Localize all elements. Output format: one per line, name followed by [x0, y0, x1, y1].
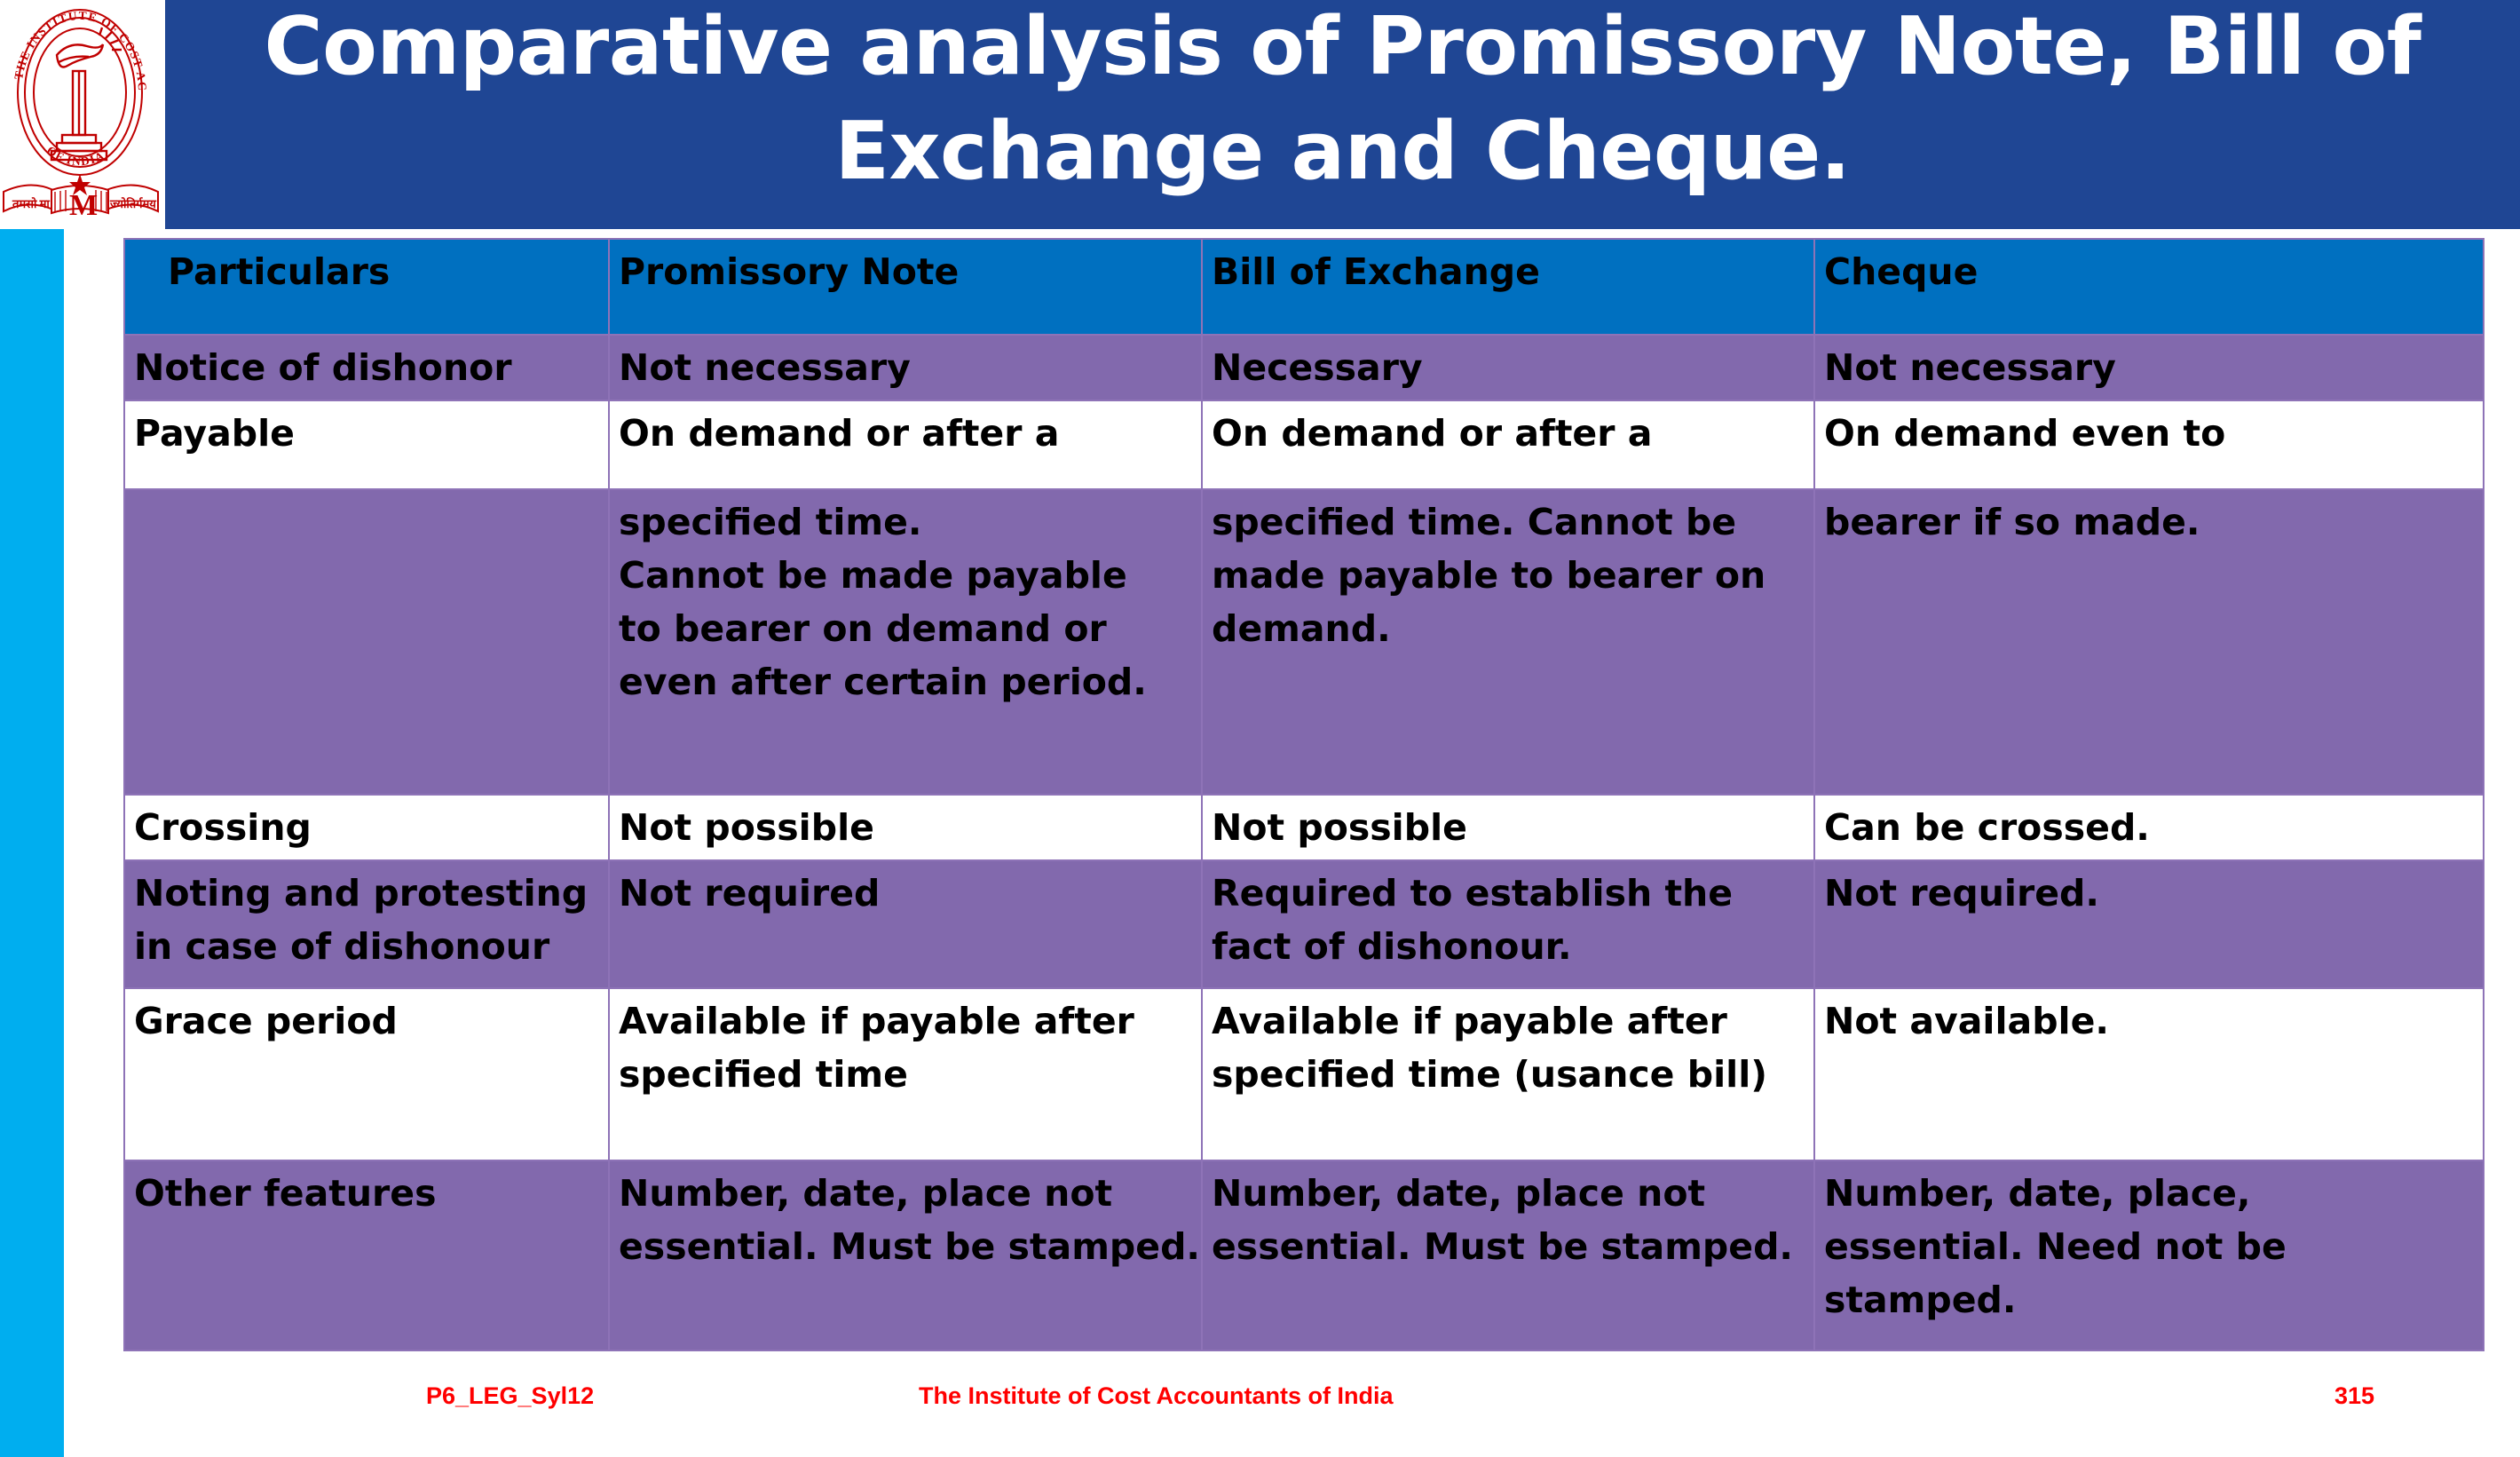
cell-particulars: Notice of dishonor — [124, 335, 609, 400]
cell-promissory-note: Number, date, place not essential. Must … — [609, 1160, 1202, 1350]
cell-cheque: Can be crossed. — [1814, 795, 2484, 860]
table-header-row: Particulars Promissory Note Bill of Exch… — [124, 239, 2484, 335]
cell-promissory-note: specified time. Cannot be made payable t… — [609, 489, 1202, 795]
table-row: Notice of dishonor Not necessary Necessa… — [124, 335, 2484, 400]
column-header-bill-of-exchange: Bill of Exchange — [1202, 239, 1814, 335]
page-title: Comparative analysis of Promissory Note,… — [165, 0, 2520, 204]
column-header-particulars: Particulars — [124, 239, 609, 335]
cell-promissory-note: Not possible — [609, 795, 1202, 860]
slide-footer: P6_LEG_Syl12 The Institute of Cost Accou… — [0, 1381, 2520, 1423]
cell-particulars: Crossing — [124, 795, 609, 860]
cell-bill-of-exchange: Available if payable after specified tim… — [1202, 988, 1814, 1160]
cell-bill-of-exchange: Necessary — [1202, 335, 1814, 400]
left-accent-rail — [0, 229, 64, 1457]
cell-cheque: Not required. — [1814, 860, 2484, 988]
svg-text:ज्योतिर्गमय: ज्योतिर्गमय — [109, 197, 156, 210]
column-header-promissory-note: Promissory Note — [609, 239, 1202, 335]
cell-cheque: Not necessary — [1814, 335, 2484, 400]
cell-particulars: Payable — [124, 400, 609, 489]
cell-particulars — [124, 489, 609, 795]
cell-cheque: On demand even to — [1814, 400, 2484, 489]
cell-promissory-note: On demand or after a — [609, 400, 1202, 489]
comparison-table: Particulars Promissory Note Bill of Exch… — [123, 238, 2484, 1351]
title-band: Comparative analysis of Promissory Note,… — [165, 0, 2520, 229]
footer-subject-code: P6_LEG_Syl12 — [426, 1381, 594, 1411]
column-header-cheque: Cheque — [1814, 239, 2484, 335]
cell-cheque: bearer if so made. — [1814, 489, 2484, 795]
cell-bill-of-exchange: Not possible — [1202, 795, 1814, 860]
cell-promissory-note: Available if payable after specified tim… — [609, 988, 1202, 1160]
svg-text:OF INDIA: OF INDIA — [44, 143, 107, 168]
table-row: Payable On demand or after a On demand o… — [124, 400, 2484, 489]
footer-institute-name: The Institute of Cost Accountants of Ind… — [919, 1381, 1394, 1411]
cell-particulars: Other features — [124, 1160, 609, 1350]
cell-bill-of-exchange: Required to establish the fact of dishon… — [1202, 860, 1814, 988]
icai-logo: THE INSTITUTE OF COST ACCOUNTANTS OF IND… — [0, 0, 165, 229]
cell-particulars: Grace period — [124, 988, 609, 1160]
cell-bill-of-exchange: specified time. Cannot be made payable t… — [1202, 489, 1814, 795]
footer-page-number: 315 — [2334, 1381, 2374, 1411]
table-row: specified time. Cannot be made payable t… — [124, 489, 2484, 795]
table-row: Noting and protesting in case of dishono… — [124, 860, 2484, 988]
table-row: Other features Number, date, place not e… — [124, 1160, 2484, 1350]
table-row: Crossing Not possible Not possible Can b… — [124, 795, 2484, 860]
cell-promissory-note: Not necessary — [609, 335, 1202, 400]
cell-bill-of-exchange: On demand or after a — [1202, 400, 1814, 489]
slide-canvas: Comparative analysis of Promissory Note,… — [0, 0, 2520, 1457]
table-row: Grace period Available if payable after … — [124, 988, 2484, 1160]
cell-bill-of-exchange: Number, date, place not essential. Must … — [1202, 1160, 1814, 1350]
svg-text:तमसो मा: तमसो मा — [12, 197, 50, 210]
cell-cheque: Number, date, place, essential. Need not… — [1814, 1160, 2484, 1350]
cell-promissory-note: Not required — [609, 860, 1202, 988]
cell-cheque: Not available. — [1814, 988, 2484, 1160]
comparison-table-wrapper: Particulars Promissory Note Bill of Exch… — [123, 238, 2483, 1339]
cell-particulars: Noting and protesting in case of dishono… — [124, 860, 609, 988]
